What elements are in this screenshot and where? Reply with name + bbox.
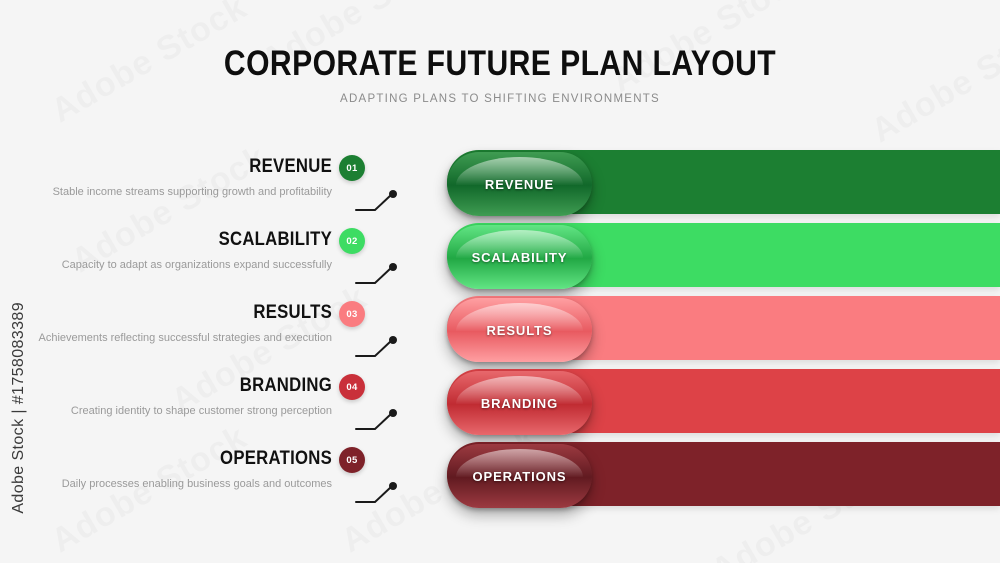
row-description: Achievements reflecting successful strat… <box>32 331 332 346</box>
page-title: CORPORATE FUTURE PLAN LAYOUT <box>70 44 930 84</box>
row-heading: RESULTS <box>68 302 332 324</box>
step-badge: 05 <box>339 447 365 473</box>
pill-label: REVENUE <box>485 177 554 192</box>
pill-button-results[interactable]: RESULTS <box>447 298 592 362</box>
pill-button-scalability[interactable]: SCALABILITY <box>447 225 592 289</box>
pill-button-revenue[interactable]: REVENUE <box>447 152 592 216</box>
row-heading: BRANDING <box>68 375 332 397</box>
plan-row: REVENUE REVENUE Stable income streams su… <box>0 150 1000 222</box>
plan-row: SCALABILITY SCALABILITY Capacity to adap… <box>0 223 1000 295</box>
row-info: SCALABILITY Capacity to adapt as organiz… <box>32 229 332 273</box>
plan-row: RESULTS RESULTS Achievements reflecting … <box>0 296 1000 368</box>
row-heading: OPERATIONS <box>68 448 332 470</box>
step-badge: 02 <box>339 228 365 254</box>
connector-line-icon <box>355 480 401 508</box>
row-info: BRANDING Creating identity to shape cust… <box>32 375 332 419</box>
row-description: Capacity to adapt as organizations expan… <box>32 258 332 273</box>
connector-line-icon <box>355 261 401 289</box>
plan-row: OPERATIONS OPERATIONS Daily processes en… <box>0 442 1000 514</box>
row-description: Creating identity to shape customer stro… <box>32 404 332 419</box>
row-heading: REVENUE <box>68 156 332 178</box>
pill-button-branding[interactable]: BRANDING <box>447 371 592 435</box>
page-subtitle: ADAPTING PLANS TO SHIFTING ENVIRONMENTS <box>0 93 1000 105</box>
step-badge: 03 <box>339 301 365 327</box>
step-badge: 04 <box>339 374 365 400</box>
step-badge: 01 <box>339 155 365 181</box>
pill-label: SCALABILITY <box>472 250 568 265</box>
page-header: CORPORATE FUTURE PLAN LAYOUT ADAPTING PL… <box>0 44 1000 105</box>
row-heading: SCALABILITY <box>68 229 332 251</box>
row-info: REVENUE Stable income streams supporting… <box>32 156 332 200</box>
connector-line-icon <box>355 334 401 362</box>
pill-label: OPERATIONS <box>473 469 567 484</box>
connector-line-icon <box>355 407 401 435</box>
pill-button-operations[interactable]: OPERATIONS <box>447 444 592 508</box>
plan-row: BRANDING BRANDING Creating identity to s… <box>0 369 1000 441</box>
connector-line-icon <box>355 188 401 216</box>
row-info: OPERATIONS Daily processes enabling busi… <box>32 448 332 492</box>
stock-credit-label: Adobe Stock | #1758083389 <box>10 302 28 514</box>
pill-label: BRANDING <box>481 396 558 411</box>
row-description: Stable income streams supporting growth … <box>32 185 332 200</box>
pill-label: RESULTS <box>486 323 552 338</box>
row-description: Daily processes enabling business goals … <box>32 477 332 492</box>
row-info: RESULTS Achievements reflecting successf… <box>32 302 332 346</box>
